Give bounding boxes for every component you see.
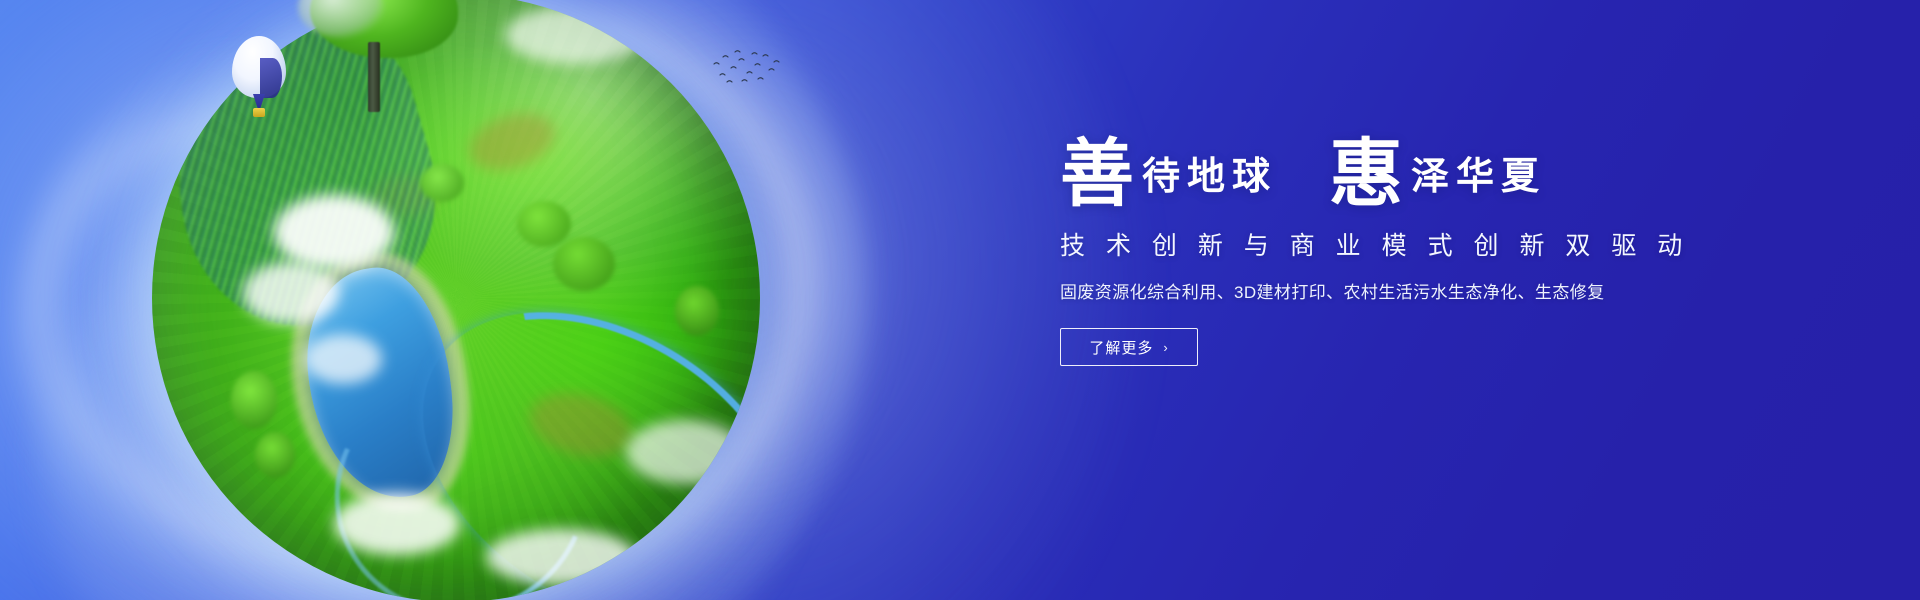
tree-trunk bbox=[368, 42, 380, 112]
cloud bbox=[505, 6, 645, 64]
balloon-basket bbox=[253, 108, 265, 117]
chevron-right-icon: › bbox=[1163, 340, 1168, 355]
hot-air-balloon-icon bbox=[232, 36, 286, 122]
balloon-neck bbox=[253, 94, 265, 108]
hero-banner: 善 待地球 惠 泽华夏 技 术 创 新 与 商 业 模 式 创 新 双 驱 动 … bbox=[0, 0, 1920, 600]
tree-clump bbox=[517, 201, 571, 247]
tree-icon bbox=[292, 0, 472, 114]
learn-more-button[interactable]: 了解更多 › bbox=[1060, 328, 1198, 366]
headline-word-1: 待地球 bbox=[1134, 158, 1283, 206]
headline-char-1: 善 bbox=[1060, 138, 1134, 212]
cloud bbox=[334, 493, 460, 555]
tree-clump bbox=[231, 371, 277, 429]
headline-char-2: 惠 bbox=[1329, 138, 1403, 212]
cloud bbox=[274, 195, 394, 269]
balloon-stripe bbox=[260, 58, 282, 98]
bird-flock-icon bbox=[712, 48, 782, 88]
subtitle: 技 术 创 新 与 商 业 模 式 创 新 双 驱 动 bbox=[1060, 226, 1760, 262]
cloud bbox=[243, 262, 339, 324]
headline: 善 待地球 惠 泽华夏 bbox=[1060, 132, 1760, 206]
hero-copy: 善 待地球 惠 泽华夏 技 术 创 新 与 商 业 模 式 创 新 双 驱 动 … bbox=[1060, 132, 1760, 366]
tagline: 固废资源化综合利用、3D建材打印、农村生活污水生态净化、生态修复 bbox=[1060, 278, 1760, 303]
tree-clump bbox=[255, 432, 295, 478]
cloud bbox=[626, 420, 744, 484]
headline-word-2: 泽华夏 bbox=[1403, 158, 1552, 206]
learn-more-label: 了解更多 bbox=[1089, 337, 1153, 358]
tree-clump bbox=[420, 164, 464, 202]
tree-clump bbox=[675, 286, 719, 336]
cloud bbox=[486, 529, 636, 585]
